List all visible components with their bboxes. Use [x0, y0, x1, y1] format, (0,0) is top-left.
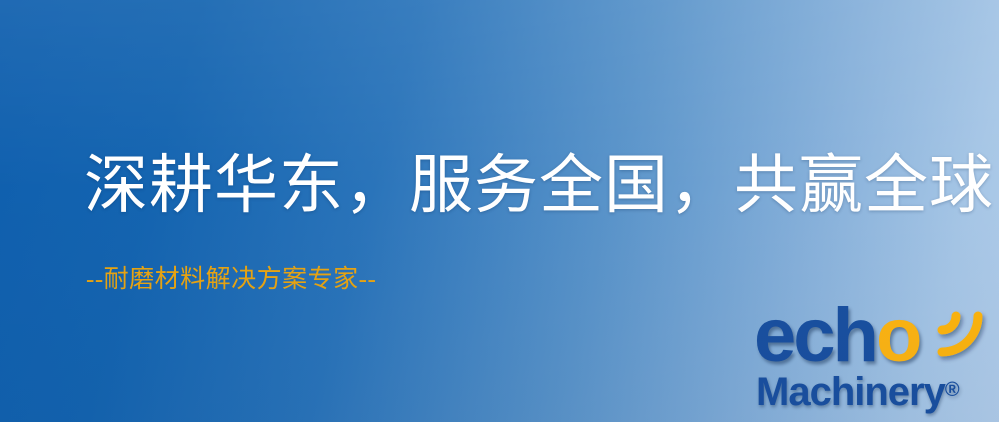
- logo-wordmark-o: o: [876, 293, 919, 378]
- banner-subtitle: --耐磨材料解决方案专家--: [86, 266, 376, 294]
- logo-mark: echo Machinery®: [742, 296, 999, 420]
- company-logo[interactable]: echo Machinery®: [742, 296, 999, 420]
- logo-subtext: Machinery®: [756, 372, 960, 412]
- banner-headline: 深耕华东，服务全国，共赢全球: [84, 152, 994, 219]
- promotional-banner: 深耕华东，服务全国，共赢全球 --耐磨材料解决方案专家-- echo: [0, 0, 999, 422]
- logo-wordmark-prefix: ech: [754, 293, 876, 378]
- signal-waves-icon: [928, 290, 999, 366]
- logo-wordmark: echo: [754, 298, 919, 374]
- registered-trademark-mark: ®: [945, 379, 960, 401]
- logo-subtext-label: Machinery: [756, 370, 945, 414]
